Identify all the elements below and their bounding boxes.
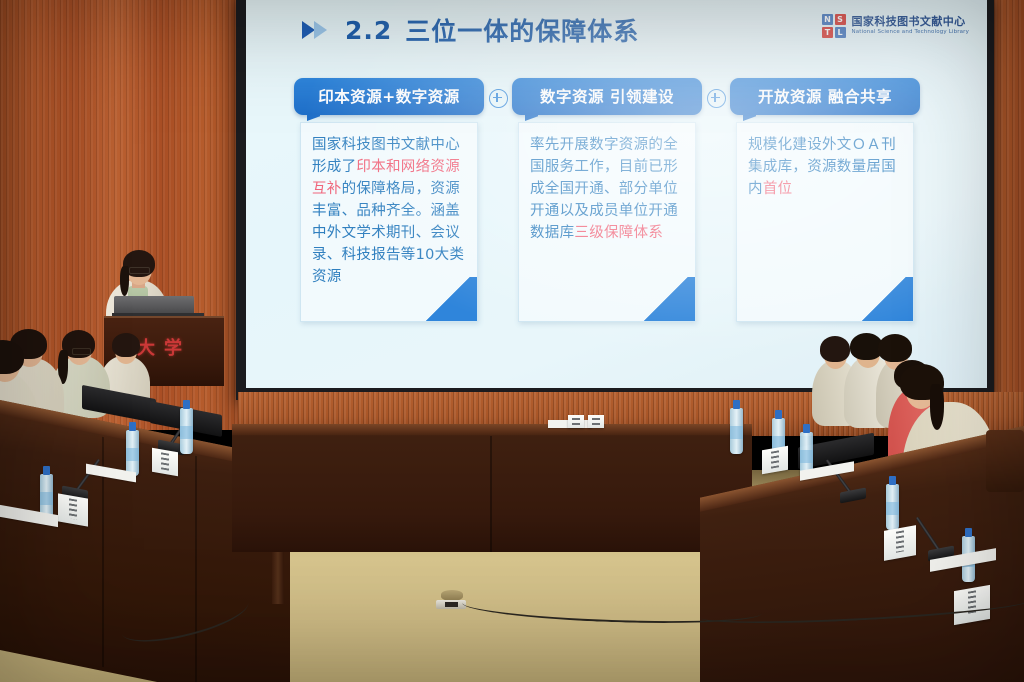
slide-card-3-heading: 开放资源 融合共享	[758, 88, 892, 106]
banner-notch	[525, 113, 538, 121]
slide-title-text: 三位一体的保障体系	[405, 12, 639, 48]
card-corner-accent	[637, 277, 695, 321]
logo-title-en: National Science and Technology Library	[852, 30, 969, 36]
slide-card-row: 印本资源+数字资源 国家科技图书文献中心形成了印本和网络资源互补的保障格局，资源…	[294, 78, 954, 322]
name-card-far-1	[568, 415, 584, 428]
slide-card-1-body: 国家科技图书文献中心形成了印本和网络资源互补的保障格局，资源丰富、品种齐全。涵盖…	[300, 122, 478, 322]
name-card-far-2	[588, 415, 604, 428]
logo-cell-t: T	[822, 27, 833, 38]
slide-title: 2.2 三位一体的保障体系	[302, 12, 639, 48]
conference-table-far	[232, 424, 752, 552]
table-leg-far-1	[272, 552, 284, 604]
name-card-left-1	[58, 493, 88, 526]
logo-title-cn: 国家科技图书文献中心	[852, 16, 969, 27]
water-bottle-right-4	[886, 484, 899, 530]
banner-notch	[743, 113, 756, 121]
slide-card-3-heading-banner: 开放资源 融合共享	[730, 78, 920, 115]
slide-card-2-body: 率先开展数字资源的全国服务工作，目前已形成全国开通、部分单位开通以及成员单位开通…	[518, 122, 696, 322]
slide-card-2: 数字资源 引领建设 率先开展数字资源的全国服务工作，目前已形成全国开通、部分单位…	[512, 78, 702, 322]
logo-cell-s: S	[835, 14, 846, 25]
slide-card-2-heading-banner: 数字资源 引领建设	[512, 78, 702, 115]
slide-card-3: 开放资源 融合共享 规模化建设外文ＯＡ刊集成库，资源数量居国内首位	[730, 78, 920, 322]
slide-card-1-heading-banner: 印本资源+数字资源	[294, 78, 484, 115]
banner-notch	[307, 113, 320, 121]
logo-mark-icon: N S T L	[822, 14, 846, 38]
slide-title-number: 2.2	[345, 16, 392, 45]
name-card-right-1	[762, 446, 788, 475]
slide-card-1: 印本资源+数字资源 国家科技图书文献中心形成了印本和网络资源互补的保障格局，资源…	[294, 78, 484, 322]
slide-card-2-heading: 数字资源 引领建设	[540, 88, 674, 106]
name-card-left-2	[152, 448, 178, 477]
chair-right-1	[986, 430, 1024, 492]
triangle-right-icon	[302, 18, 332, 42]
logo-cell-n: N	[822, 14, 833, 25]
card-3-seg-2-highlight: 首位	[763, 181, 793, 197]
logo-cell-l: L	[835, 27, 846, 38]
water-bottle-left-2	[126, 430, 139, 476]
conference-room-photo: 大学 2.2 三位一体的保障体系 N S T L 国家科技图书文献中心 Nati…	[0, 0, 1024, 682]
water-bottle-left-3	[180, 408, 193, 454]
card-corner-accent	[855, 277, 913, 321]
nstl-logo: N S T L 国家科技图书文献中心 National Science and …	[822, 14, 969, 38]
projection-screen: 2.2 三位一体的保障体系 N S T L 国家科技图书文献中心 Nationa…	[246, 0, 987, 388]
name-card-right-2	[884, 525, 916, 561]
slide-card-3-body: 规模化建设外文ＯＡ刊集成库，资源数量居国内首位	[736, 122, 914, 322]
plus-circle-icon-2	[702, 78, 730, 108]
card-corner-accent	[419, 277, 477, 321]
plus-circle-icon-1	[484, 78, 512, 108]
water-bottle-right-1	[730, 408, 743, 454]
card-2-seg-2-highlight: 三级保障体系	[574, 225, 663, 241]
slide-card-1-heading: 印本资源+数字资源	[318, 88, 460, 106]
